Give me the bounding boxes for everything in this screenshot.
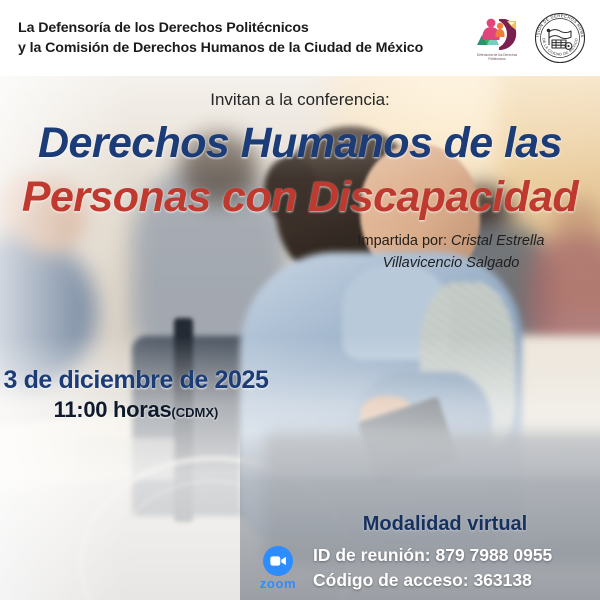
zoom-access-block: zoom ID de reunión: 879 7988 0955 Código… [252, 543, 552, 593]
zoom-logo: zoom [252, 546, 304, 590]
speaker-name-line-2: Villavicencio Salgado [326, 253, 576, 275]
event-time: 11:00 horas(CDMX) [0, 397, 272, 423]
speaker-lead-label: Impartida por: [358, 233, 447, 249]
invitation-line: Invitan a la conferencia: [0, 90, 600, 110]
cdhcm-seal-logo: COMISIÓN DE DERECHOS HUMANOS DE LA CIUDA… [532, 10, 588, 66]
speaker-credit: Impartida por: Cristal Estrella Villavic… [326, 231, 576, 275]
organizer-line-1: La Defensoría de los Derechos Politécnic… [18, 18, 423, 38]
conference-poster: La Defensoría de los Derechos Politécnic… [0, 0, 600, 600]
schedule-block: 3 de diciembre de 2025 11:00 horas(CDMX) [0, 366, 272, 423]
poster-title-line-2: Personas con Discapacidad [0, 173, 600, 222]
zoom-passcode: Código de acceso: 363138 [313, 568, 552, 593]
zoom-meeting-id: ID de reunión: 879 7988 0955 [313, 543, 552, 568]
event-time-value: 11:00 horas [54, 397, 172, 422]
zoom-credentials: ID de reunión: 879 7988 0955 Código de a… [313, 543, 552, 593]
organizer-line-2: y la Comisión de Derechos Humanos de la … [18, 38, 423, 58]
logo-group: Defensoría de los Derechos Politécnicos … [468, 9, 588, 67]
defensoria-logo-caption: Defensoría de los Derechos Politécnicos [469, 53, 526, 61]
zoom-wordmark: zoom [260, 577, 296, 590]
organizers-text: La Defensoría de los Derechos Politécnic… [18, 18, 423, 58]
event-timezone: (CDMX) [171, 405, 218, 420]
modality-label: Modalidad virtual [300, 513, 590, 536]
poster-title-line-1: Derechos Humanos de las [0, 119, 600, 168]
event-date: 3 de diciembre de 2025 [0, 366, 272, 395]
speaker-name-line-1: Cristal Estrella [451, 233, 544, 249]
video-camera-icon [263, 546, 293, 576]
defensoria-logo: Defensoría de los Derechos Politécnicos [468, 9, 526, 67]
poster-header: La Defensoría de los Derechos Politécnic… [0, 0, 600, 76]
